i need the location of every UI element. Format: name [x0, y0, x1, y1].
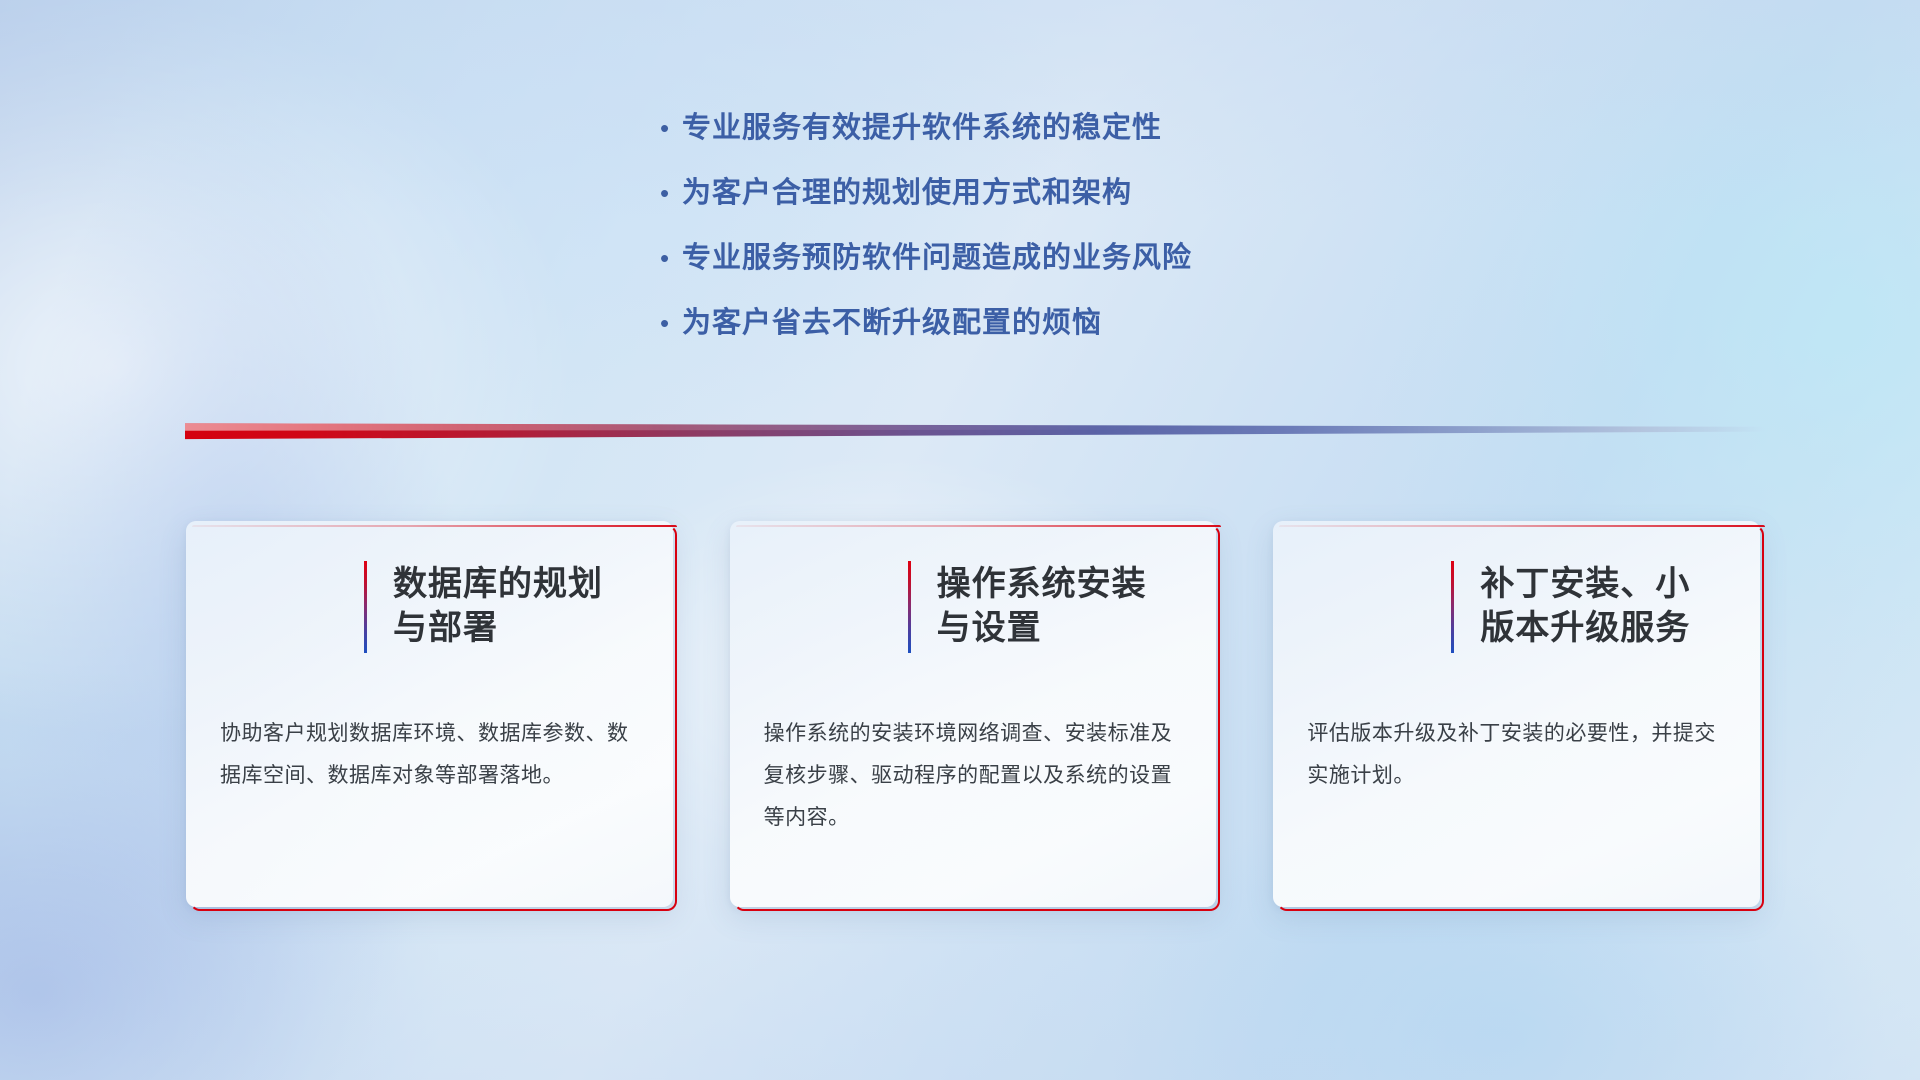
list-item: • 专业服务有效提升软件系统的稳定性: [660, 104, 1420, 169]
card-number-badge: 02: [752, 548, 904, 666]
bullet-dot-icon: •: [660, 115, 682, 141]
bullet-text: 专业服务预防软件问题造成的业务风险: [682, 234, 1192, 276]
bullet-text: 为客户合理的规划使用方式和架构: [682, 169, 1132, 211]
list-item: • 为客户省去不断升级配置的烦恼: [660, 299, 1420, 364]
bullet-text: 为客户省去不断升级配置的烦恼: [682, 299, 1102, 341]
service-card-03[interactable]: 03 补丁安装、小 版本升级服务 评估版本升级及补丁安装的必要性，并提交实施计划…: [1273, 521, 1760, 907]
card-body-text: 协助客户规划数据库环境、数据库参数、数据库空间、数据库对象等部署落地。: [220, 713, 643, 797]
card-header: 02 操作系统安装 与设置: [730, 539, 1217, 675]
card-header: 03 补丁安装、小 版本升级服务: [1273, 539, 1760, 675]
card-number-badge: 01: [208, 548, 360, 666]
bullet-dot-icon: •: [660, 180, 682, 206]
card-header: 01 数据库的规划 与部署: [186, 539, 673, 675]
list-item: • 专业服务预防软件问题造成的业务风险: [660, 234, 1420, 299]
bullet-dot-icon: •: [660, 245, 682, 271]
list-item: • 为客户合理的规划使用方式和架构: [660, 169, 1420, 234]
benefits-bullet-list: • 专业服务有效提升软件系统的稳定性 • 为客户合理的规划使用方式和架构 • 专…: [660, 104, 1420, 364]
card-number-badge: 03: [1295, 548, 1447, 666]
card-title-divider-icon: [908, 561, 911, 653]
card-title: 操作系统安装 与设置: [937, 563, 1147, 650]
card-title-divider-icon: [1451, 561, 1454, 653]
card-title: 补丁安装、小 版本升级服务: [1480, 563, 1690, 650]
card-title-divider-icon: [364, 561, 367, 653]
card-number-value: 03: [1289, 548, 1453, 666]
service-card-list: 01 数据库的规划 与部署 协助客户规划数据库环境、数据库参数、数据库空间、数据…: [186, 521, 1760, 911]
bullet-text: 专业服务有效提升软件系统的稳定性: [682, 104, 1162, 146]
section-divider: [185, 418, 1765, 440]
bullet-dot-icon: •: [660, 310, 682, 336]
card-number-value: 01: [202, 548, 366, 666]
service-card-01[interactable]: 01 数据库的规划 与部署 协助客户规划数据库环境、数据库参数、数据库空间、数据…: [186, 521, 673, 907]
slide-canvas: • 专业服务有效提升软件系统的稳定性 • 为客户合理的规划使用方式和架构 • 专…: [0, 0, 1920, 1080]
card-body-text: 评估版本升级及补丁安装的必要性，并提交实施计划。: [1307, 713, 1730, 797]
card-number-value: 02: [745, 548, 909, 666]
service-card-02[interactable]: 02 操作系统安装 与设置 操作系统的安装环境网络调查、安装标准及复核步骤、驱动…: [730, 521, 1217, 907]
card-body-text: 操作系统的安装环境网络调查、安装标准及复核步骤、驱动程序的配置以及系统的设置等内…: [764, 713, 1187, 839]
card-title: 数据库的规划 与部署: [393, 563, 603, 650]
